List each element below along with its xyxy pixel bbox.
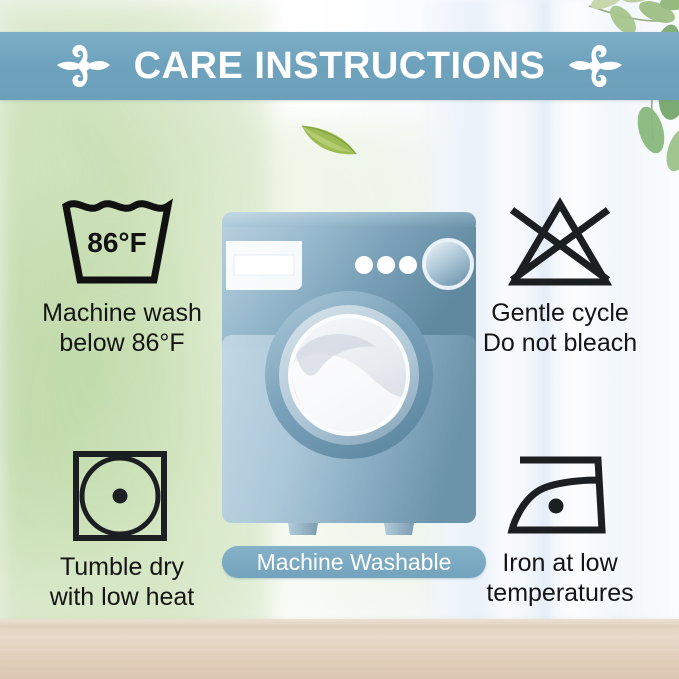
table-wood-grain — [0, 619, 679, 679]
fleur-de-lis-icon — [567, 41, 625, 91]
care-symbol-do-not-bleach: Gentle cycle Do not bleach — [452, 196, 668, 358]
care-instructions-infographic: CARE INSTRUCTIONS 86°F Machine wash belo… — [0, 0, 679, 679]
care-symbol-label: Tumble dry with low heat — [50, 552, 195, 612]
do-not-bleach-triangle-icon — [498, 196, 622, 292]
wash-temperature-value: 86°F — [87, 227, 146, 258]
care-symbol-machine-wash: 86°F Machine wash below 86°F — [14, 196, 230, 358]
tumble-dry-low-icon — [68, 446, 176, 546]
fleur-de-lis-icon — [54, 41, 112, 91]
status-badge-label: Machine Washable — [257, 551, 452, 574]
wash-tub-icon: 86°F — [60, 196, 184, 292]
status-badge: Machine Washable — [222, 546, 486, 578]
iron-low-icon — [498, 446, 622, 542]
floating-leaf-decoration — [298, 118, 360, 160]
care-symbol-tumble-dry: Tumble dry with low heat — [14, 446, 230, 612]
washing-machine-illustration — [216, 205, 482, 540]
care-symbol-iron: Iron at low temperatures — [452, 446, 668, 608]
care-symbol-label: Gentle cycle Do not bleach — [483, 298, 637, 358]
page-title: CARE INSTRUCTIONS — [134, 47, 546, 85]
care-symbol-label: Machine wash below 86°F — [42, 298, 202, 358]
care-symbol-label: Iron at low temperatures — [486, 548, 633, 608]
header-banner: CARE INSTRUCTIONS — [0, 32, 679, 100]
